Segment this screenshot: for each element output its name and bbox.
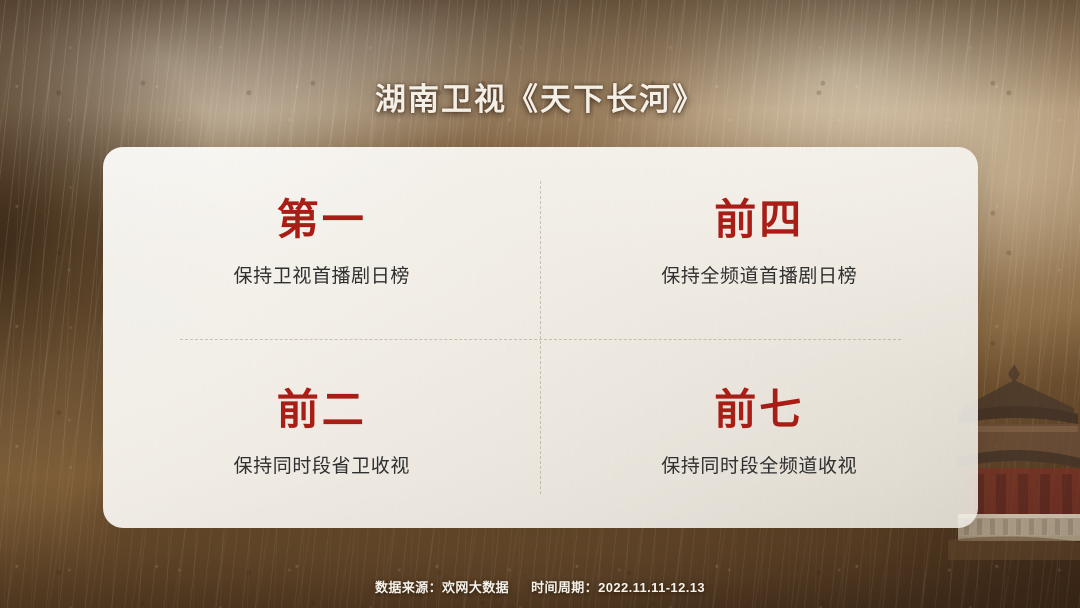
stat-headline-2: 前四 [714, 197, 804, 243]
stat-subtitle-3: 保持同时段省卫收视 [234, 451, 410, 478]
stat-cell-2: 前四 保持全频道首播剧日榜 [541, 147, 979, 338]
stat-cell-3: 前二 保持同时段省卫收视 [103, 338, 541, 529]
stat-headline-4: 前七 [714, 387, 804, 433]
stat-cell-4: 前七 保持同时段全频道收视 [541, 338, 979, 529]
stat-subtitle-1: 保持卫视首播剧日榜 [234, 261, 410, 288]
vertical-divider [540, 181, 541, 494]
stat-headline-3: 前二 [277, 387, 367, 433]
footer-credits: 数据来源：欢网大数据 时间周期：2022.11.11-12.13 [0, 577, 1080, 596]
stat-subtitle-2: 保持全频道首播剧日榜 [661, 261, 857, 288]
footer-source: 数据来源：欢网大数据 [375, 580, 509, 595]
page-title: 湖南卫视《天下长河》 [0, 74, 1080, 119]
stat-headline-1: 第一 [277, 197, 367, 243]
poster-stage: 湖南卫视《天下长河》 第一 保持卫视首播剧日榜 前四 保持全频道首播剧日榜 前二… [0, 0, 1080, 608]
stats-card: 第一 保持卫视首播剧日榜 前四 保持全频道首播剧日榜 前二 保持同时段省卫收视 … [103, 147, 978, 528]
stat-cell-1: 第一 保持卫视首播剧日榜 [103, 147, 541, 338]
footer-period: 时间周期：2022.11.11-12.13 [531, 580, 705, 595]
stat-subtitle-4: 保持同时段全频道收视 [661, 451, 857, 478]
